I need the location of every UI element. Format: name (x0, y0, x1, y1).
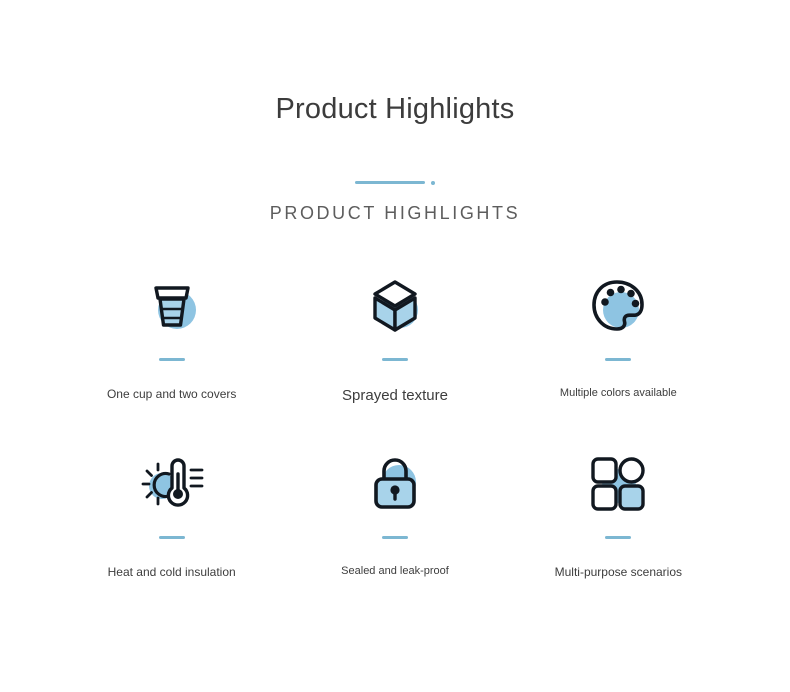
grid-shapes-icon (582, 448, 654, 520)
feature-label: Sprayed texture (342, 387, 448, 404)
feature-rule (159, 536, 185, 539)
feature-grid: One cup and two covers Sprayed texture (0, 270, 790, 626)
feature-item[interactable]: Heat and cold insulation (60, 448, 283, 626)
feature-label: Heat and cold insulation (108, 565, 236, 579)
feature-item[interactable]: Multi-purpose scenarios (507, 448, 730, 626)
padlock-icon (359, 448, 431, 520)
feature-rule (382, 358, 408, 361)
feature-label: One cup and two covers (107, 387, 236, 401)
section-divider (0, 177, 790, 189)
divider-bar (355, 181, 425, 184)
cube-box-icon (359, 270, 431, 342)
page-title: Product Highlights (0, 92, 790, 127)
thermometer-icon (136, 448, 208, 520)
coffee-cup-icon (136, 270, 208, 342)
feature-label: Multiple colors available (560, 387, 677, 399)
feature-rule (605, 536, 631, 539)
paint-palette-icon (582, 270, 654, 342)
feature-item[interactable]: One cup and two covers (60, 270, 283, 448)
feature-rule (605, 358, 631, 361)
feature-rule (382, 536, 408, 539)
page-subtitle: PRODUCT HIGHLIGHTS (0, 203, 790, 224)
feature-rule (159, 358, 185, 361)
feature-item[interactable]: Multiple colors available (507, 270, 730, 448)
feature-item[interactable]: Sprayed texture (283, 270, 506, 448)
feature-label: Multi-purpose scenarios (555, 565, 682, 579)
product-highlights-page: Product Highlights PRODUCT HIGHLIGHTS (0, 0, 790, 692)
feature-item[interactable]: Sealed and leak-proof (283, 448, 506, 626)
divider-dot (431, 181, 435, 185)
page-header: Product Highlights PRODUCT HIGHLIGHTS (0, 0, 790, 224)
feature-label: Sealed and leak-proof (341, 565, 449, 577)
